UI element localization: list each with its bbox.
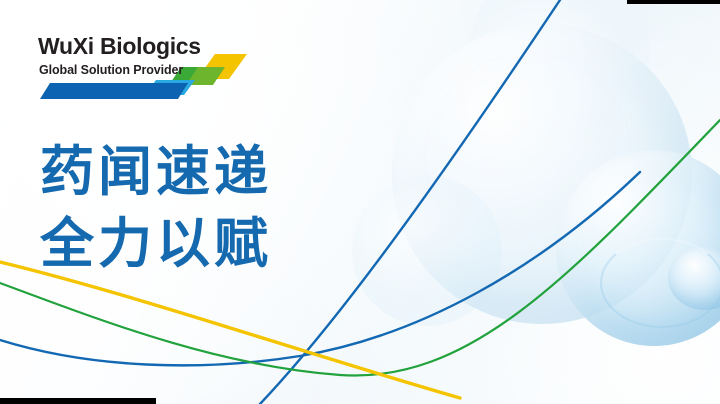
wuxi-biologics-logo: WuXi Biologics Global Solution Provider: [38, 33, 258, 103]
headline-line-1: 药闻速递: [40, 136, 272, 208]
logo-wordmark: WuXi Biologics: [38, 33, 201, 60]
logo-mark-blue: [40, 83, 188, 99]
curve-blue-rising: [260, 0, 560, 404]
crop-bar-bottom-left: [0, 398, 156, 404]
marketing-banner: WuXi Biologics Global Solution Provider …: [0, 0, 720, 404]
curve-yellow: [0, 262, 460, 398]
logo-tagline: Global Solution Provider: [39, 63, 183, 77]
headline-line-2: 全力以赋: [40, 208, 272, 280]
crop-bar-top-right: [627, 0, 720, 4]
page-title: 药闻速递 全力以赋: [40, 136, 272, 280]
